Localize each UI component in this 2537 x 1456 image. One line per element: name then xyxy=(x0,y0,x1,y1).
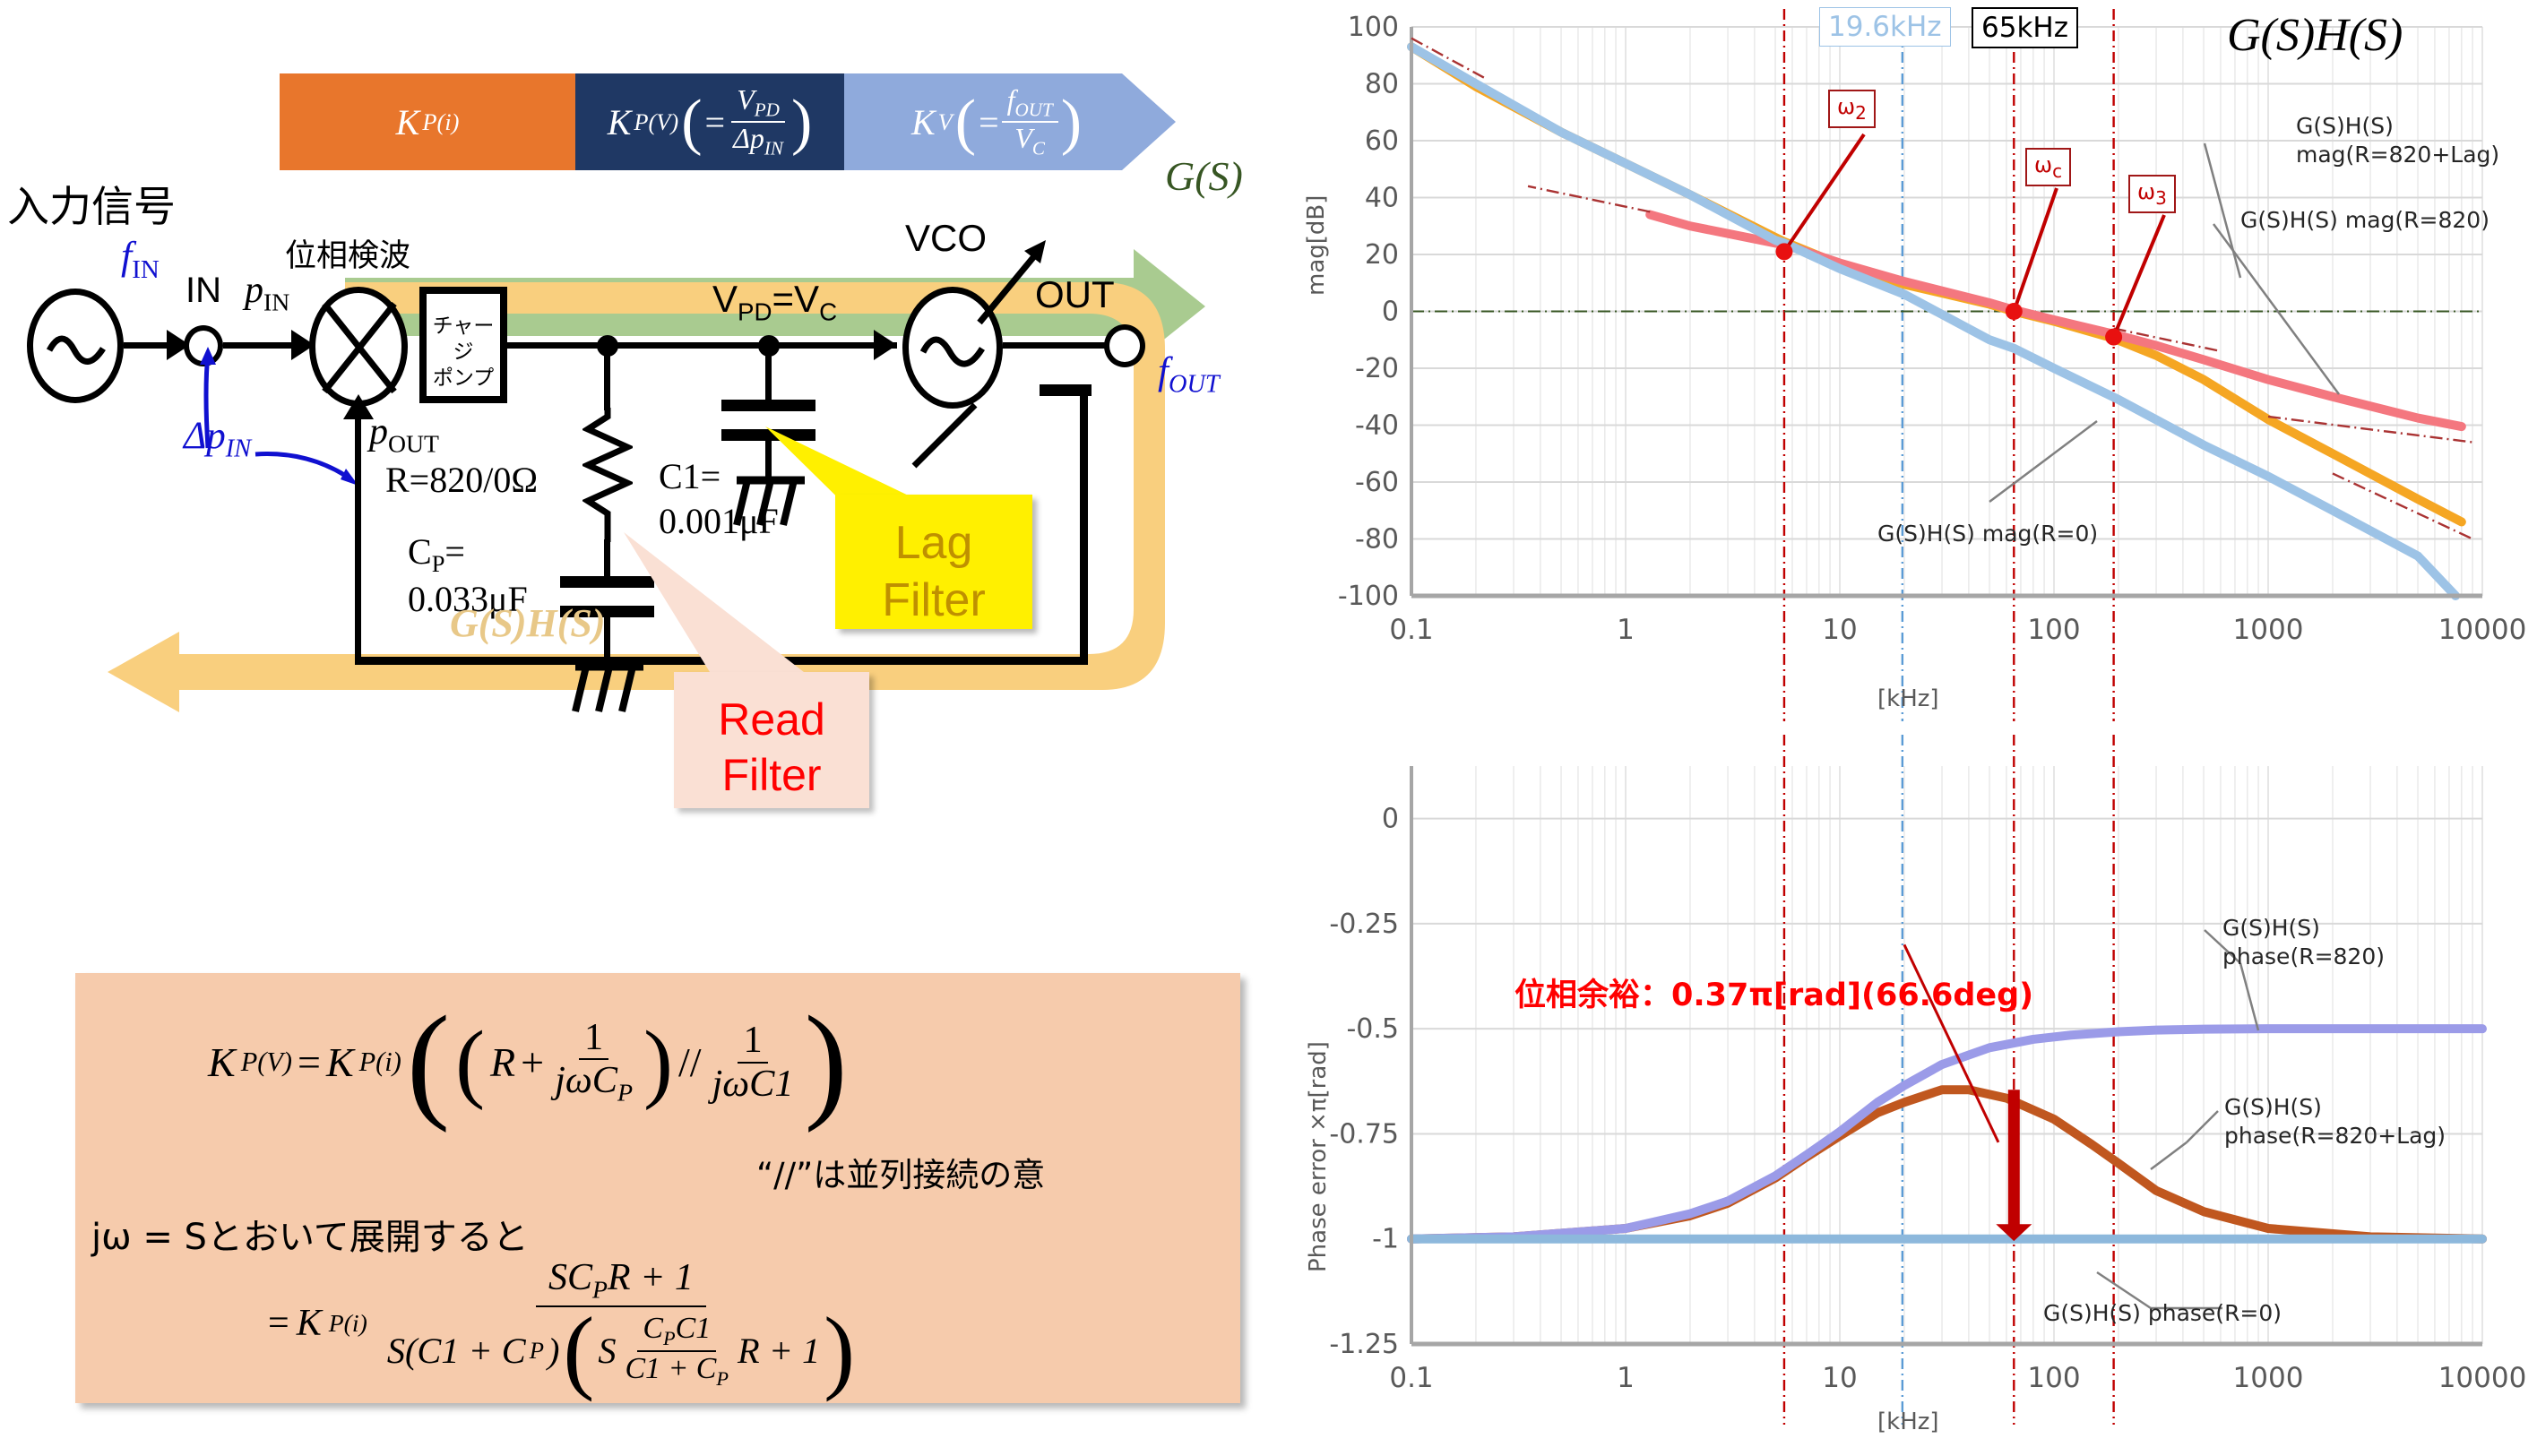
pll-block-diagram: 入力信号 fIN 位相検波 IN pIN ΔpIN pOUT チャージ ポンプ xyxy=(0,179,1255,896)
mag-x-axis-label: [kHz] xyxy=(1877,685,1939,712)
formula-line-2: jω = Sとおいて展開すると xyxy=(91,1208,529,1260)
legend-phase-0: G(S)H(S) phase(R=0) xyxy=(2043,1299,2282,1328)
charge-pump-line2: ポンプ xyxy=(433,366,494,390)
resistor-symbol xyxy=(582,408,633,542)
svg-text:-0.75: -0.75 xyxy=(1329,1118,1399,1150)
svg-text:60: 60 xyxy=(1365,125,1399,157)
phase-margin-annotation: 位相余裕：0.37π[rad](66.6deg) xyxy=(1514,969,2033,1015)
arrowhead-feedback-pd xyxy=(343,394,374,419)
svg-text:40: 40 xyxy=(1365,183,1399,214)
gain-banner: KP(i) KP(V) ( = VPD ΔpIN ) KV ( = fOUT V… xyxy=(280,73,1176,170)
svg-text:100: 100 xyxy=(2027,1362,2080,1394)
charge-pump-block: チャージ ポンプ xyxy=(419,287,507,403)
omegac-callout: ωc xyxy=(2025,148,2071,186)
wire-cp-vco xyxy=(507,342,897,349)
gain-block-kv-label: KV ( = fOUT VC ) xyxy=(911,85,1082,158)
svg-text:0.1: 0.1 xyxy=(1389,1362,1433,1394)
marker-label-65khz: 65kHz xyxy=(1972,7,2078,48)
in-label: IN xyxy=(186,271,221,311)
gain-block-kp-i: KP(i) xyxy=(280,73,575,170)
phase-x-axis-label: [kHz] xyxy=(1877,1409,1939,1435)
lag-filter-callout: Lag Filter xyxy=(835,495,1032,629)
svg-text:1: 1 xyxy=(1617,614,1635,646)
svg-text:1000: 1000 xyxy=(2233,614,2304,646)
parallel-note: “//”は並列接続の意 xyxy=(756,1148,1045,1196)
svg-text:-80: -80 xyxy=(1355,524,1399,556)
lag-callout-line2: Filter xyxy=(882,574,986,626)
formula-box: KP(V) = KP(i) ( ( R + 1 jωCP ) // 1 jωC1… xyxy=(75,973,1240,1403)
phase-detector-label: 位相検波 xyxy=(285,230,410,276)
mag-y-axis-label: mag[dB] xyxy=(1303,195,1330,296)
out-label: OUT xyxy=(1035,273,1115,316)
omega2-callout: ω2 xyxy=(1828,90,1876,128)
svg-text:-1.25: -1.25 xyxy=(1329,1329,1399,1360)
svg-text:20: 20 xyxy=(1365,239,1399,271)
gain-block-kp-i-label: KP(i) xyxy=(396,101,460,143)
marker-label-19-6khz: 19.6kHz xyxy=(1819,7,1951,47)
p-in-label: pIN xyxy=(245,269,289,316)
read-callout-line2: Filter xyxy=(721,750,821,800)
wire-vco-out xyxy=(1003,342,1109,349)
svg-text:-40: -40 xyxy=(1355,410,1399,442)
svg-text:0.1: 0.1 xyxy=(1389,614,1433,646)
svg-text:0: 0 xyxy=(1382,297,1399,328)
resistor-label: R=820/0Ω xyxy=(385,459,538,501)
vco-label: VCO xyxy=(905,217,987,260)
svg-text:10000: 10000 xyxy=(2438,1362,2527,1394)
svg-text:100: 100 xyxy=(2027,614,2080,646)
svg-text:-1: -1 xyxy=(1372,1224,1399,1255)
out-node xyxy=(1104,324,1145,367)
svg-text:10000: 10000 xyxy=(2438,614,2527,646)
legend-phase-820-lag: G(S)H(S)phase(R=820+Lag) xyxy=(2224,1093,2446,1150)
svg-text:80: 80 xyxy=(1365,69,1399,100)
vpd-vc-label: VPD=VC xyxy=(712,278,837,326)
svg-text:-100: -100 xyxy=(1338,581,1399,612)
legend-mag-0: G(S)H(S) mag(R=0) xyxy=(1877,520,2098,548)
gain-block-kv: KV ( = fOUT VC ) xyxy=(853,73,1140,170)
svg-text:100: 100 xyxy=(1348,12,1399,43)
svg-text:1000: 1000 xyxy=(2233,1362,2304,1394)
wire-feedback-down xyxy=(1080,391,1088,664)
input-signal-label: 入力信号 xyxy=(7,172,176,234)
gshs-label: G(S)H(S) xyxy=(450,600,606,646)
omega3-callout: ω3 xyxy=(2128,175,2176,213)
magnitude-plot: 100806040200-20-40-60-80-1000.1110100100… xyxy=(1290,0,2537,735)
svg-text:-0.25: -0.25 xyxy=(1329,909,1399,940)
svg-text:10: 10 xyxy=(1822,614,1857,646)
c1-label: C1= xyxy=(659,455,721,497)
formula-line-3: = KP(i) SCPR + 1 S(C1 + CP) ( S CPC1 C1 … xyxy=(268,1258,867,1389)
wire-c1-top xyxy=(765,348,772,403)
cap-c1-plate-top xyxy=(721,400,815,411)
legend-phase-820: G(S)H(S)phase(R=820) xyxy=(2222,914,2385,971)
phase-plot: 0-0.25-0.5-0.75-1-1.250.1110100100010000… xyxy=(1290,735,2537,1456)
f-in-label: fIN xyxy=(121,233,160,285)
phase-y-axis-label: Phase error ×π[rad] xyxy=(1305,1041,1332,1272)
lag-callout-line1: Lag xyxy=(895,517,973,569)
svg-text:-60: -60 xyxy=(1355,467,1399,498)
wire-feedback-to-pd xyxy=(355,408,361,663)
svg-text:1: 1 xyxy=(1617,1362,1635,1394)
wire-cp-top xyxy=(604,539,610,580)
read-callout-line1: Read xyxy=(718,694,825,745)
svg-text:-20: -20 xyxy=(1355,353,1399,384)
formula-line-1: KP(V) = KP(i) ( ( R + 1 jωCP ) // 1 jωC1… xyxy=(208,1018,848,1107)
gain-block-kp-v-label: KP(V) ( = VPD ΔpIN ) xyxy=(608,85,813,158)
arrowhead-vco-in xyxy=(874,330,899,360)
input-oscillator xyxy=(27,289,124,403)
legend-mag-820: G(S)H(S) mag(R=820) xyxy=(2240,206,2490,235)
gain-block-kp-v: KP(V) ( = VPD ΔpIN ) xyxy=(571,73,849,170)
p-out-label: pOUT xyxy=(369,410,439,458)
gs-label: G(S) xyxy=(1165,152,1243,200)
read-filter-callout: Read Filter xyxy=(674,672,869,808)
svg-text:-0.5: -0.5 xyxy=(1346,1013,1399,1045)
legend-mag-820-lag: G(S)H(S)mag(R=820+Lag) xyxy=(2296,112,2499,169)
svg-text:10: 10 xyxy=(1822,1362,1857,1394)
svg-text:0: 0 xyxy=(1382,804,1399,835)
delta-p-in-label: ΔpIN xyxy=(184,414,251,464)
f-out-label: fOUT xyxy=(1158,349,1220,400)
wire-r-top xyxy=(604,348,610,410)
charge-pump-line1: チャージ xyxy=(433,314,495,364)
mag-plot-title: G(S)H(S) xyxy=(2227,9,2403,62)
